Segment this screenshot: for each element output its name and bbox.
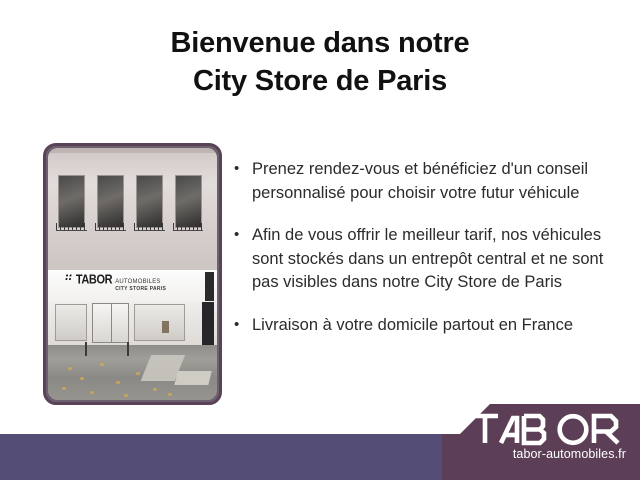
sign-side-panel (205, 272, 213, 301)
window-icon (97, 175, 124, 228)
leaf-icon (168, 393, 172, 396)
bullet-item-1: Prenez rendez-vous et bénéficiez d'un co… (232, 158, 624, 205)
leaf-icon (153, 388, 157, 391)
balcony-railing (56, 223, 86, 231)
window-icon (136, 175, 163, 228)
leaf-icon (124, 394, 128, 397)
shop-door (92, 303, 129, 342)
tabor-dots-icon (64, 274, 75, 283)
shop-sign-brand: TABOR (76, 273, 112, 287)
shop-sign-line1: AUTOMOBILES (115, 279, 166, 286)
title-line-1: Bienvenue dans notre (0, 24, 640, 62)
storefront-glass (48, 302, 217, 345)
bullet-item-3: Livraison à votre domicile partout en Fr… (232, 314, 624, 338)
bollard-icon (127, 342, 129, 355)
title-line-2: City Store de Paris (0, 62, 640, 100)
shop-sign-subtitle: AUTOMOBILES CITY STORE PARIS (115, 279, 166, 293)
balcony-railing (95, 223, 125, 231)
storefront-photo: TABOR AUTOMOBILES CITY STORE PARIS (48, 148, 217, 400)
facade-cornice (48, 148, 217, 153)
leaf-icon (100, 363, 104, 366)
shop-dark-panel (202, 302, 214, 345)
leaf-icon (62, 387, 66, 390)
shop-sign: TABOR AUTOMOBILES CITY STORE PARIS (65, 274, 166, 293)
window-icon (58, 175, 85, 228)
bollard-icon (85, 342, 87, 355)
shop-counter (162, 321, 169, 333)
tabor-logo-icon (470, 412, 628, 446)
bullet-list: Prenez rendez-vous et bénéficiez d'un co… (232, 158, 624, 356)
leaf-icon (80, 377, 84, 380)
shop-sign-band: TABOR AUTOMOBILES CITY STORE PARIS (48, 269, 217, 304)
storefront-photo-frame: TABOR AUTOMOBILES CITY STORE PARIS (43, 143, 222, 405)
pavement (48, 345, 217, 400)
kerb-stone (175, 371, 212, 385)
shop-window-right (134, 304, 185, 341)
shop-window-left (55, 304, 87, 341)
brand-logo: tabor-automobiles.fr (458, 412, 628, 461)
leaf-icon (90, 391, 94, 394)
bullet-item-2: Afin de vous offrir le meilleur tarif, n… (232, 224, 624, 295)
shop-sign-line2: CITY STORE PARIS (115, 286, 166, 293)
brand-website: tabor-automobiles.fr (458, 447, 626, 461)
leaf-icon (68, 367, 72, 370)
window-icon (175, 175, 202, 228)
leaf-icon (136, 372, 140, 375)
leaf-icon (116, 381, 120, 384)
building-facade (48, 148, 217, 269)
balcony-railing (173, 223, 203, 231)
slide: Bienvenue dans notre City Store de Paris… (0, 0, 640, 480)
page-title: Bienvenue dans notre City Store de Paris (0, 24, 640, 100)
balcony-railing (134, 223, 164, 231)
